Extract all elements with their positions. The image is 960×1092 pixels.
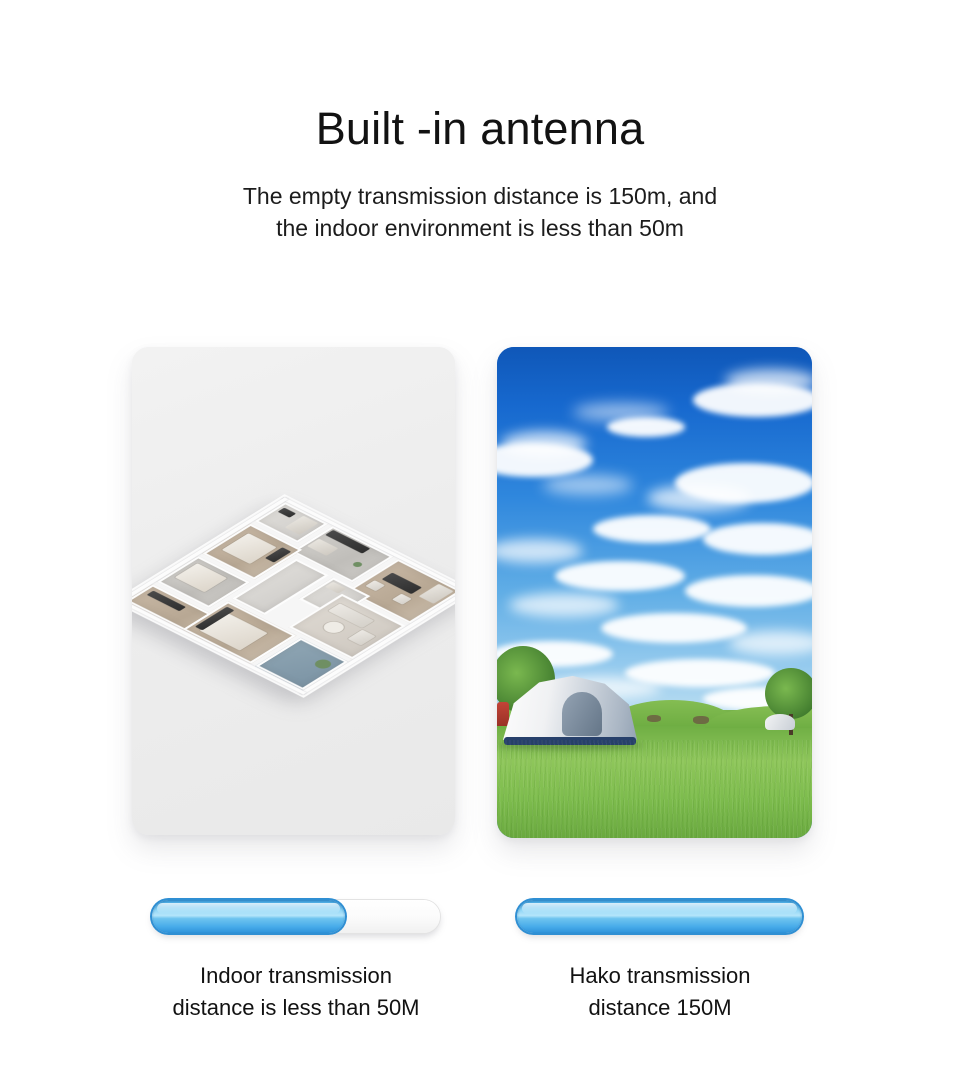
indoor-caption-line-2: distance is less than 50M	[118, 992, 474, 1024]
cloud	[725, 369, 812, 393]
cloud	[601, 613, 747, 643]
bed-2	[174, 563, 226, 592]
tree-crown	[765, 668, 812, 719]
floor-plan-isometric-model	[132, 497, 455, 694]
indoor-range-bar-fill	[152, 900, 345, 933]
camping-tent	[503, 664, 637, 752]
dining-table	[381, 572, 421, 594]
cloud	[555, 561, 685, 591]
cloud	[703, 523, 812, 555]
fixture-vanity	[277, 507, 296, 517]
outdoor-scene-card	[497, 347, 812, 838]
cloud	[501, 431, 587, 457]
outdoor-range-bar-track[interactable]	[517, 900, 802, 933]
cloud	[509, 593, 619, 617]
coffee-table	[319, 619, 347, 635]
cloud	[543, 475, 633, 495]
armchair	[347, 630, 375, 646]
grass-texture	[497, 740, 812, 838]
header: Built -in antenna The empty transmission…	[0, 0, 960, 245]
balcony-plant	[311, 658, 334, 671]
outdoor-caption: Hako transmission distance 150M	[500, 960, 820, 1024]
floor-plan-illustration	[132, 347, 455, 835]
indoor-caption-line-1: Indoor transmission	[118, 960, 474, 992]
outdoor-caption-line-2: distance 150M	[500, 992, 820, 1024]
distant-animal	[693, 716, 709, 724]
kitchen-island	[307, 539, 338, 556]
distant-animal	[647, 715, 661, 722]
tent-door	[562, 692, 602, 736]
cloud	[593, 515, 711, 543]
outdoor-range-bar[interactable]	[517, 900, 802, 933]
subtitle-line-2: the indoor environment is less than 50m	[0, 212, 960, 245]
cloud	[647, 485, 751, 511]
indoor-caption: Indoor transmission distance is less tha…	[118, 960, 474, 1024]
indoor-range-bar-track[interactable]	[152, 900, 440, 933]
dining-chair-1	[365, 580, 385, 591]
cloud	[685, 575, 812, 607]
distant-tent	[765, 714, 795, 730]
subtitle-line-1: The empty transmission distance is 150m,…	[0, 180, 960, 213]
page-subtitle: The empty transmission distance is 150m,…	[0, 180, 960, 245]
cloud	[607, 417, 685, 437]
promo-page: Built -in antenna The empty transmission…	[0, 0, 960, 1092]
outdoor-caption-line-1: Hako transmission	[500, 960, 820, 992]
indoor-scene-card	[132, 347, 455, 835]
dining-chair-2	[392, 594, 412, 605]
outdoor-range-bar-fill	[517, 900, 802, 933]
fixture-shower	[284, 516, 318, 535]
camping-field-photo	[497, 347, 812, 838]
kitchen-plant	[351, 561, 364, 568]
transmission-range-bars	[0, 900, 960, 936]
fixture-sink	[324, 582, 345, 594]
indoor-range-bar[interactable]	[152, 900, 440, 933]
page-title: Built -in antenna	[0, 104, 960, 154]
comparison-cards	[0, 347, 960, 842]
